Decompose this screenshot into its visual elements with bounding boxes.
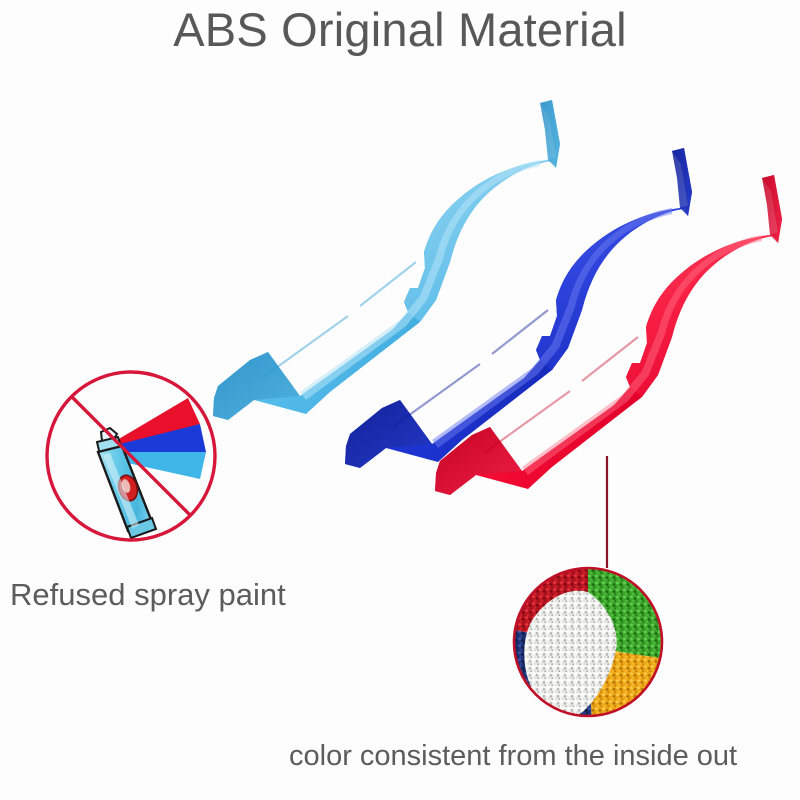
caption-color-consistent: color consistent from the inside out: [289, 740, 737, 773]
red-trim-strip: [435, 175, 782, 495]
caption-refused-spray-paint: Refused spray paint: [10, 577, 286, 613]
illustration-layer: [0, 0, 800, 800]
abs-pellets-callout: [500, 560, 674, 726]
light-blue-trim-strip: [213, 100, 560, 420]
no-spray-paint-icon: [47, 372, 215, 540]
dark-blue-trim-strip: [345, 148, 692, 468]
product-infographic-canvas: ABS Original Material: [0, 0, 800, 800]
